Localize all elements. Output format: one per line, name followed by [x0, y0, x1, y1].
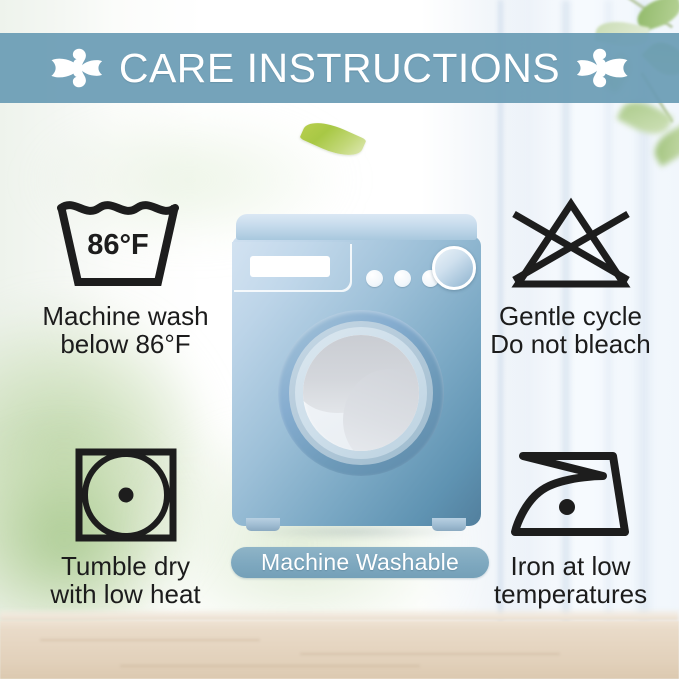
care-symbol-do-not-bleach: Gentle cycle Do not bleach [468, 196, 673, 358]
iron-one-dot-icon [501, 446, 641, 544]
table-grain-1 [40, 639, 260, 641]
caption-line-1: Iron at low [511, 551, 631, 581]
wash-tub-icon: 86°F [51, 196, 201, 294]
caption-line-2: below 86°F [42, 331, 208, 359]
control-button-2 [394, 270, 411, 287]
triangle-crossed-icon [496, 196, 646, 294]
table-grain-2 [300, 653, 560, 655]
wash-temperature-label: 86°F [87, 229, 149, 261]
care-symbol-tumble-dry: Tumble dry with low heat [18, 446, 233, 608]
wooden-table-surface [0, 621, 679, 679]
care-symbol-iron: Iron at low temperatures [468, 446, 673, 608]
table-grain-3 [120, 665, 420, 667]
door-glass [303, 335, 419, 451]
caption-line-1: Gentle cycle [499, 301, 642, 331]
caption-machine-wash: Machine wash below 86°F [42, 303, 208, 358]
care-instructions-infographic: CARE INSTRUCTIONS [0, 0, 679, 679]
machine-top-lid [236, 214, 477, 240]
badge-label: Machine Washable [261, 549, 459, 576]
caption-line-2: with low heat [50, 581, 200, 609]
caption-do-not-bleach: Gentle cycle Do not bleach [490, 303, 650, 358]
header-banner: CARE INSTRUCTIONS [0, 33, 679, 103]
fleur-de-lis-icon-right [576, 44, 630, 92]
caption-iron: Iron at low temperatures [494, 553, 647, 608]
caption-line-2: temperatures [494, 581, 647, 609]
caption-line-1: Tumble dry [61, 551, 190, 581]
machine-washable-badge: Machine Washable [231, 547, 489, 578]
machine-foot-left [246, 518, 280, 531]
page-title: CARE INSTRUCTIONS [119, 48, 560, 89]
washing-machine-illustration [232, 214, 481, 526]
control-button-1 [366, 270, 383, 287]
tumble-dry-one-dot-icon [71, 446, 181, 544]
machine-foot-right [432, 518, 466, 531]
table-edge [0, 609, 679, 621]
care-symbol-machine-wash: 86°F Machine wash below 86°F [18, 196, 233, 358]
caption-line-2: Do not bleach [490, 331, 650, 359]
detergent-drawer [250, 256, 330, 277]
caption-line-1: Machine wash [42, 301, 208, 331]
fleur-de-lis-icon-left [49, 44, 103, 92]
caption-tumble-dry: Tumble dry with low heat [50, 553, 200, 608]
